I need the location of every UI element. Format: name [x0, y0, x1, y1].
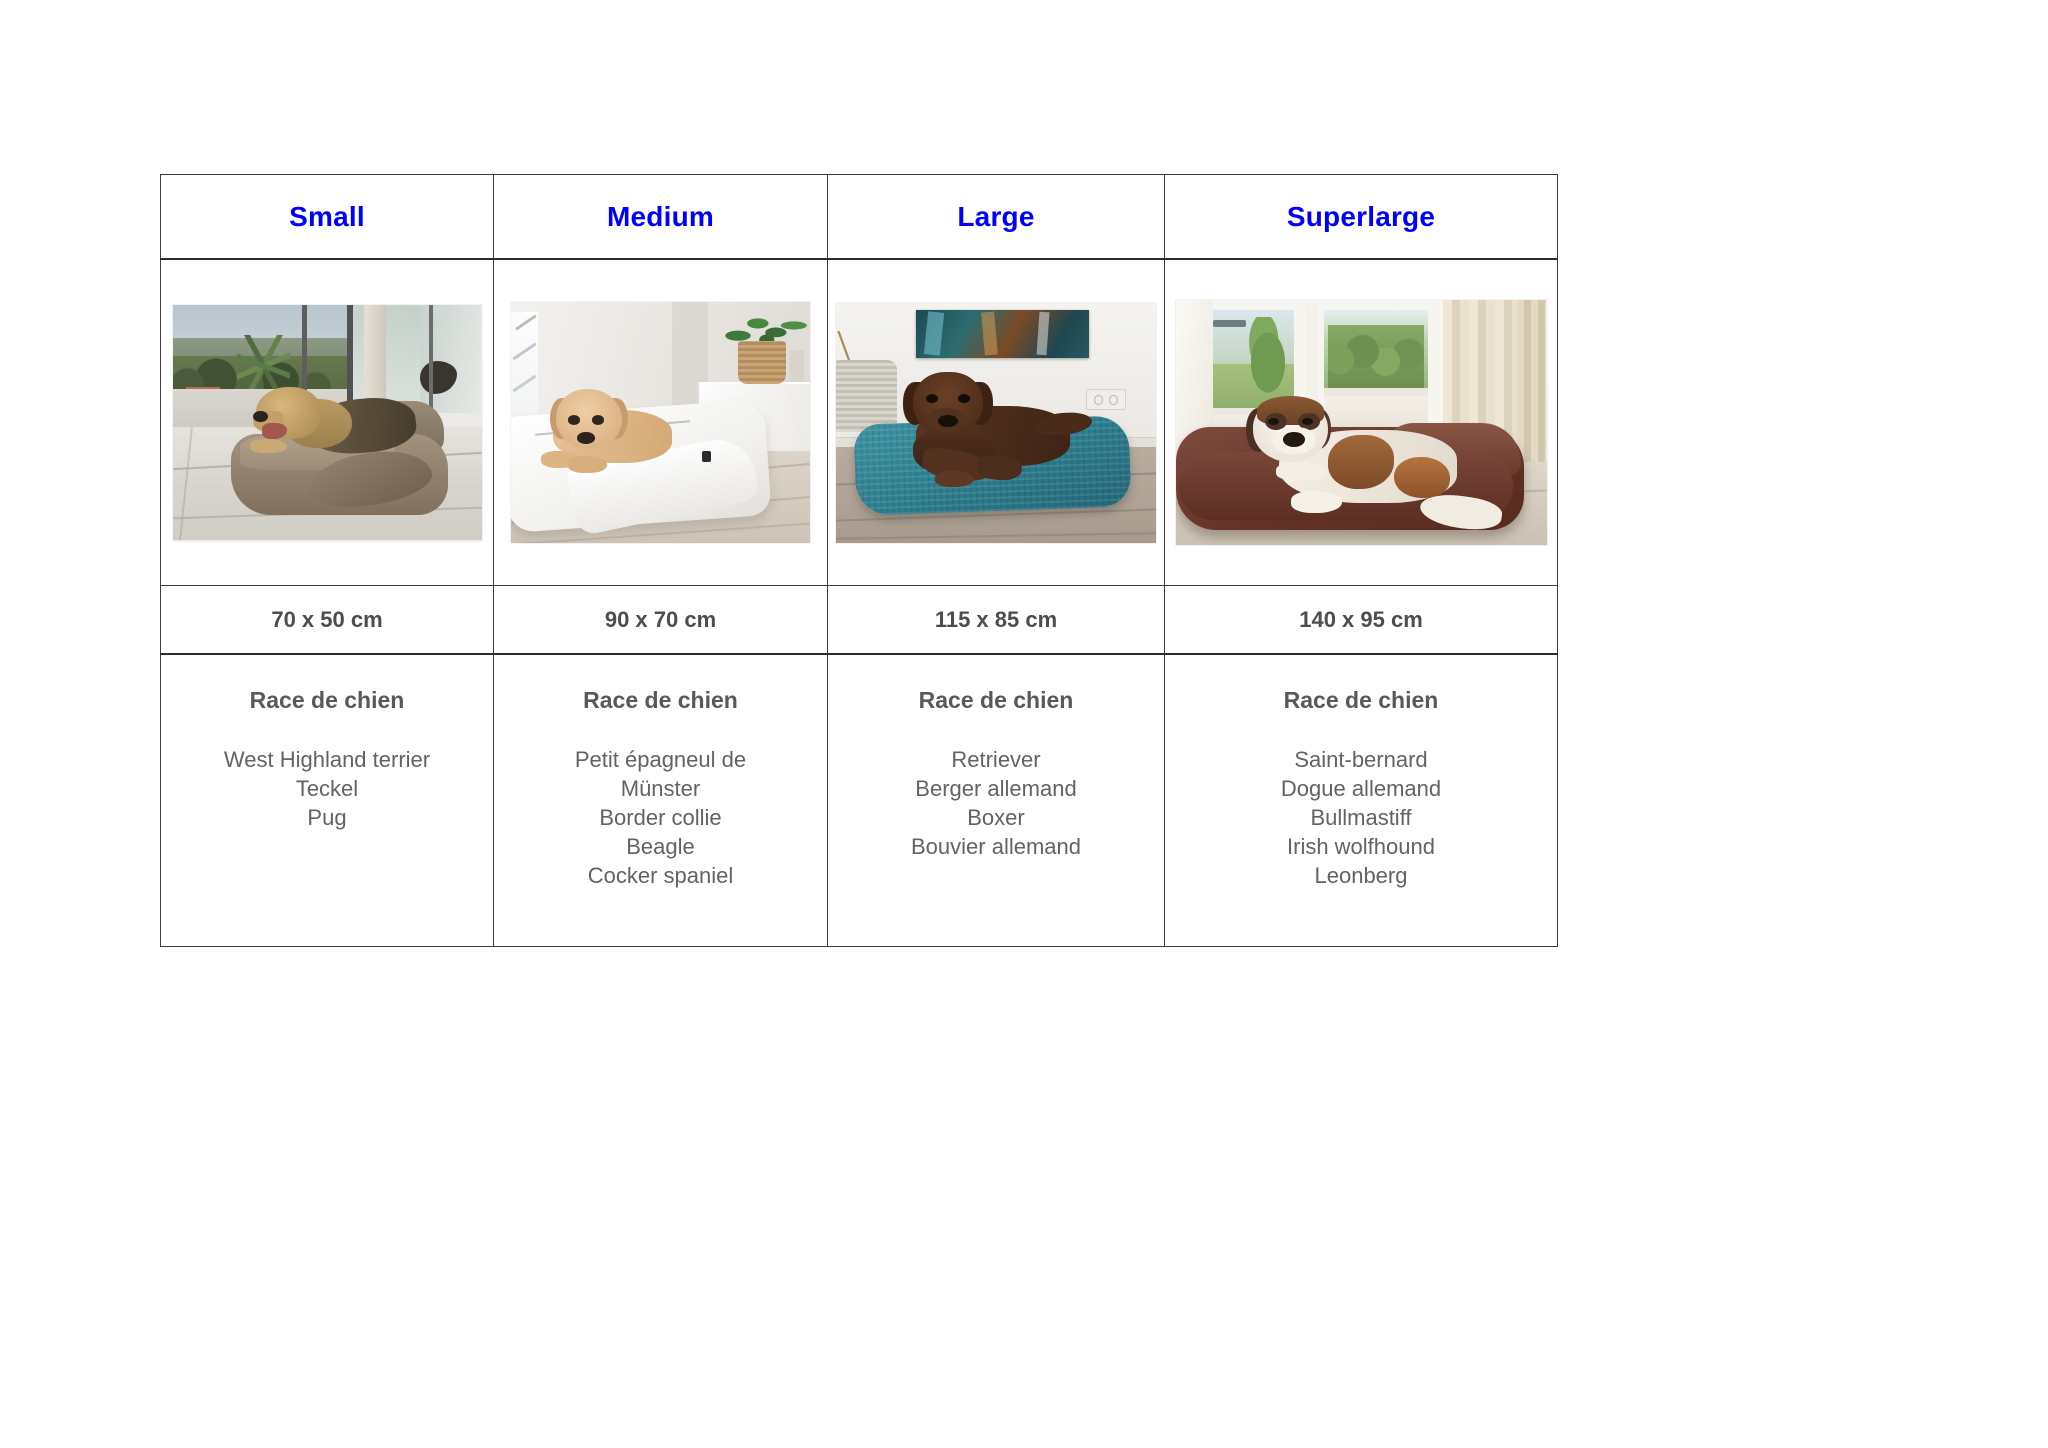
dog-paw — [1276, 462, 1328, 482]
breed-list: West Highland terrier Teckel Pug — [161, 745, 493, 832]
breed-item: Teckel — [161, 774, 493, 803]
glass-panel-mid — [352, 305, 420, 414]
dog-paw — [1291, 491, 1343, 513]
dog-eye-right — [592, 415, 604, 425]
floor-vase — [836, 360, 897, 432]
table-breeds-row: Race de chien West Highland terrier Teck… — [161, 654, 1558, 947]
breed-item: Bullmastiff — [1165, 803, 1557, 832]
header-cell-medium: Medium — [494, 175, 828, 260]
curtain-edge — [1517, 300, 1547, 472]
breed-item: Cocker spaniel — [494, 861, 827, 890]
dimension-cell-medium: 90 x 70 cm — [494, 586, 828, 655]
breed-item: Beagle — [494, 832, 827, 861]
dog-nose — [577, 432, 595, 444]
breed-list: Retriever Berger allemand Boxer Bouvier … — [828, 745, 1164, 861]
breed-item: Leonberg — [1165, 861, 1557, 890]
column-header-label: Superlarge — [1165, 203, 1557, 231]
image-cell-superlarge — [1165, 259, 1558, 586]
dimension-label: 115 x 85 cm — [828, 609, 1164, 631]
dog-paw — [568, 456, 607, 473]
dimension-label: 70 x 50 cm — [161, 609, 493, 631]
breeds-cell-superlarge: Race de chien Saint-bernard Dogue allema… — [1165, 654, 1558, 947]
breed-item: Bouvier allemand — [828, 832, 1164, 861]
breed-item: Border collie — [494, 803, 827, 832]
breed-item: Berger allemand — [828, 774, 1164, 803]
breed-item: Saint-bernard — [1165, 745, 1557, 774]
dog-coat-patch — [1328, 435, 1395, 489]
image-cell-medium — [494, 259, 828, 586]
column-header-label: Large — [828, 203, 1164, 231]
hedge-outside — [1328, 325, 1424, 389]
breed-list: Saint-bernard Dogue allemand Bullmastiff… — [1165, 745, 1557, 890]
image-cell-large — [828, 259, 1165, 586]
distant-building — [1213, 320, 1246, 327]
page-canvas: Small Medium Large Superlarge — [0, 0, 2048, 1448]
column-header-label: Small — [161, 203, 493, 231]
breed-list: Petit épagneul de Münster Border collie … — [494, 745, 827, 890]
header-cell-superlarge: Superlarge — [1165, 175, 1558, 260]
header-cell-small: Small — [161, 175, 494, 260]
dimension-label: 140 x 95 cm — [1165, 609, 1557, 631]
product-photo-superlarge — [1176, 300, 1547, 545]
dog-bed-size-table: Small Medium Large Superlarge — [160, 174, 1558, 947]
breed-item: Irish wolfhound — [1165, 832, 1557, 861]
header-cell-large: Large — [828, 175, 1165, 260]
dog-eye-right — [1302, 418, 1313, 425]
dimension-cell-small: 70 x 50 cm — [161, 586, 494, 655]
breed-section-title: Race de chien — [161, 689, 493, 712]
brand-tag — [702, 451, 711, 462]
dog-paw — [250, 439, 287, 453]
breed-item: Pug — [161, 803, 493, 832]
wall-socket — [1086, 389, 1126, 410]
table-dimensions-row: 70 x 50 cm 90 x 70 cm 115 x 85 cm 140 x … — [161, 586, 1558, 655]
product-photo-small — [173, 305, 482, 541]
dog-nose — [938, 415, 957, 427]
wicker-basket — [738, 341, 786, 384]
table-image-row — [161, 259, 1558, 586]
dimension-cell-superlarge: 140 x 95 cm — [1165, 586, 1558, 655]
breed-section-title: Race de chien — [828, 689, 1164, 712]
column-header-label: Medium — [494, 203, 827, 231]
table-header-row: Small Medium Large Superlarge — [161, 175, 1558, 260]
breed-item: West Highland terrier — [161, 745, 493, 774]
dog-coat-patch — [1394, 457, 1450, 499]
breeds-cell-large: Race de chien Retriever Berger allemand … — [828, 654, 1165, 947]
candle — [789, 350, 804, 381]
breed-item: Petit épagneul de — [494, 745, 827, 774]
dog-eye-left — [568, 415, 580, 425]
breed-section-title: Race de chien — [494, 689, 827, 712]
tree-outside — [1242, 317, 1294, 400]
dog-paw — [935, 471, 973, 488]
breed-item: Boxer — [828, 803, 1164, 832]
product-photo-medium — [511, 302, 810, 543]
breed-item: Retriever — [828, 745, 1164, 774]
dimension-cell-large: 115 x 85 cm — [828, 586, 1165, 655]
product-photo-large — [836, 303, 1156, 543]
breed-item: Dogue allemand — [1165, 774, 1557, 803]
pillar — [364, 305, 386, 409]
window-mullion — [429, 305, 433, 418]
breed-section-title: Race de chien — [1165, 689, 1557, 712]
image-cell-small — [161, 259, 494, 586]
breeds-cell-small: Race de chien West Highland terrier Teck… — [161, 654, 494, 947]
breed-item: Münster — [494, 774, 827, 803]
dimension-label: 90 x 70 cm — [494, 609, 827, 631]
breeds-cell-medium: Race de chien Petit épagneul de Münster … — [494, 654, 828, 947]
